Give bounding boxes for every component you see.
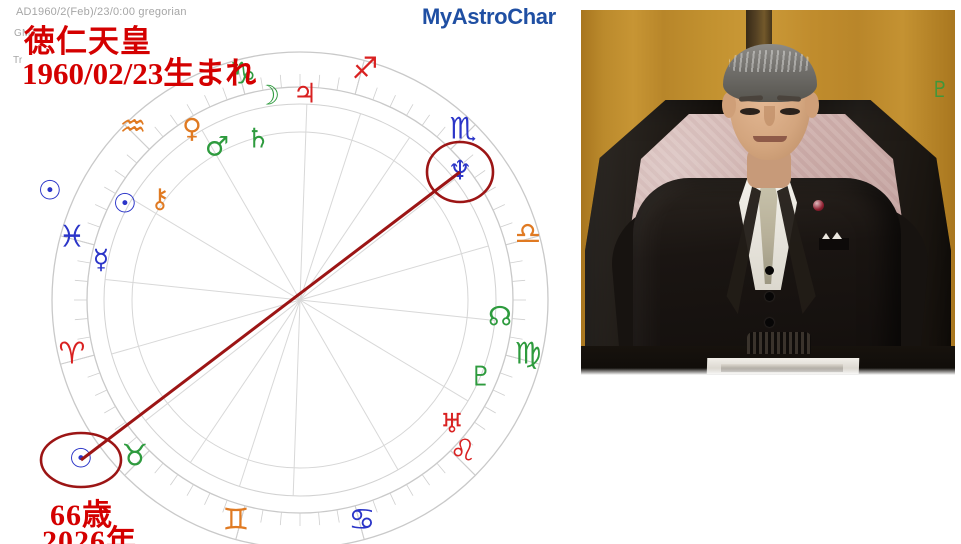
brand-logo: MyAstroChar — [422, 4, 556, 30]
degree-tick — [422, 115, 429, 126]
degree-tick — [261, 510, 263, 523]
degree-tick — [75, 280, 88, 281]
eye-left — [740, 108, 760, 115]
house-spoke-lines — [105, 104, 495, 496]
planet-glyph-layer: ☽♃♄♂♀⚷☿☉☉☊♇♅♆☉ — [38, 79, 512, 475]
degree-tick — [512, 319, 525, 320]
sign-glyph-cancer: ♋ — [349, 503, 376, 538]
degree-tick — [115, 170, 126, 177]
degree-tick — [155, 127, 163, 137]
degree-tick — [510, 261, 523, 263]
degree-tick — [280, 75, 281, 88]
degree-tick — [280, 512, 281, 525]
sign-glyph-sagittarius: ♐ — [352, 52, 379, 87]
sign-glyph-libra: ♎ — [515, 217, 542, 252]
sign-glyph-taurus: ♉ — [122, 439, 149, 474]
degree-tick — [127, 155, 137, 163]
sign-glyph-aquarius: ♒ — [120, 110, 147, 145]
degree-tick — [493, 390, 505, 395]
house-spoke — [300, 104, 307, 300]
aspect-line — [81, 172, 460, 460]
degree-tick — [204, 95, 209, 107]
microphone — [747, 332, 811, 354]
planet-glyph-jupiter: ♃ — [293, 79, 317, 110]
degree-tick — [75, 319, 88, 320]
photo-caption-strip — [581, 368, 955, 378]
planet-glyph-neptune: ♆ — [448, 156, 472, 187]
degree-tick — [319, 75, 320, 88]
degree-tick — [373, 88, 377, 100]
degree-tick — [493, 204, 505, 209]
degree-tick — [104, 407, 115, 414]
degree-tick — [88, 373, 100, 377]
annotation-year: 2026年 — [42, 516, 137, 544]
degree-tick — [390, 95, 395, 107]
planet-glyph-saturn: ♄ — [246, 124, 270, 155]
vest-button — [765, 266, 774, 275]
annotation-birthdate: 1960/02/23生まれ — [22, 48, 256, 93]
degree-tick — [204, 493, 209, 505]
portrait-photo-panel — [575, 0, 961, 386]
sign-glyph-virgo: ♍ — [515, 337, 542, 372]
stray-pluto-glyph-icon: ♇ — [930, 78, 950, 103]
degree-tick — [170, 115, 177, 126]
degree-tick — [484, 407, 495, 414]
degree-tick — [500, 373, 512, 377]
planet-glyph-venus: ♀ — [182, 114, 202, 145]
vest-button — [765, 318, 774, 327]
degree-tick — [390, 493, 395, 505]
vest-button — [765, 292, 774, 301]
screenshot-canvas: AD1960/2(Feb)/23/0:00 gregorian GMT Tr ♑… — [0, 0, 961, 544]
planet-glyph-sun-inner: ☉ — [113, 189, 137, 220]
degree-tick — [187, 484, 194, 495]
house-spoke — [112, 300, 300, 354]
sign-glyph-gemini: ♊ — [223, 503, 250, 538]
degree-tick — [500, 223, 512, 227]
astro-chart-panel: AD1960/2(Feb)/23/0:00 gregorian GMT Tr ♑… — [0, 0, 600, 544]
planet-glyph-mercury: ☿ — [93, 245, 110, 276]
sign-glyph-aries: ♈ — [59, 337, 86, 372]
portrait-photo — [581, 10, 955, 378]
degree-tick — [512, 280, 525, 281]
degree-tick — [155, 463, 163, 473]
nose — [764, 106, 775, 126]
planet-glyph-node: ☊ — [488, 302, 512, 333]
sign-glyph-pisces: ♓ — [59, 220, 86, 255]
lapel-pin — [813, 200, 824, 211]
planet-glyph-sun-transit: ☉ — [38, 176, 62, 207]
degree-tick — [170, 474, 177, 485]
degree-tick — [407, 104, 414, 115]
planet-glyph-mars: ♂ — [205, 132, 229, 163]
pocket-square — [819, 238, 849, 250]
planet-glyph-pluto: ♇ — [469, 362, 493, 393]
degree-tick — [95, 204, 107, 209]
degree-tick — [437, 127, 445, 137]
degree-tick — [95, 390, 107, 395]
degree-tick — [337, 510, 339, 523]
degree-tick — [319, 512, 320, 525]
planet-glyph-moon: ☽ — [256, 81, 280, 112]
degree-tick — [437, 463, 445, 473]
house-spoke — [300, 300, 398, 470]
degree-tick — [337, 77, 339, 90]
house-spoke — [300, 179, 454, 300]
planet-glyph-chiron: ⚷ — [150, 184, 170, 215]
degree-tick — [88, 223, 100, 227]
house-spoke — [190, 300, 300, 462]
house-spoke — [293, 300, 300, 496]
planet-glyph-uranus: ♅ — [440, 409, 464, 440]
aspect-highlight-layer — [41, 142, 493, 487]
degree-tick — [77, 261, 90, 263]
house-spoke — [146, 300, 300, 421]
mouth — [753, 136, 787, 142]
house-spoke — [300, 138, 410, 300]
eye-right — [780, 108, 800, 115]
degree-tick — [407, 484, 414, 495]
degree-tick — [474, 170, 485, 177]
degree-tick — [422, 474, 429, 485]
house-spoke — [239, 300, 300, 486]
degree-tick — [474, 422, 485, 429]
